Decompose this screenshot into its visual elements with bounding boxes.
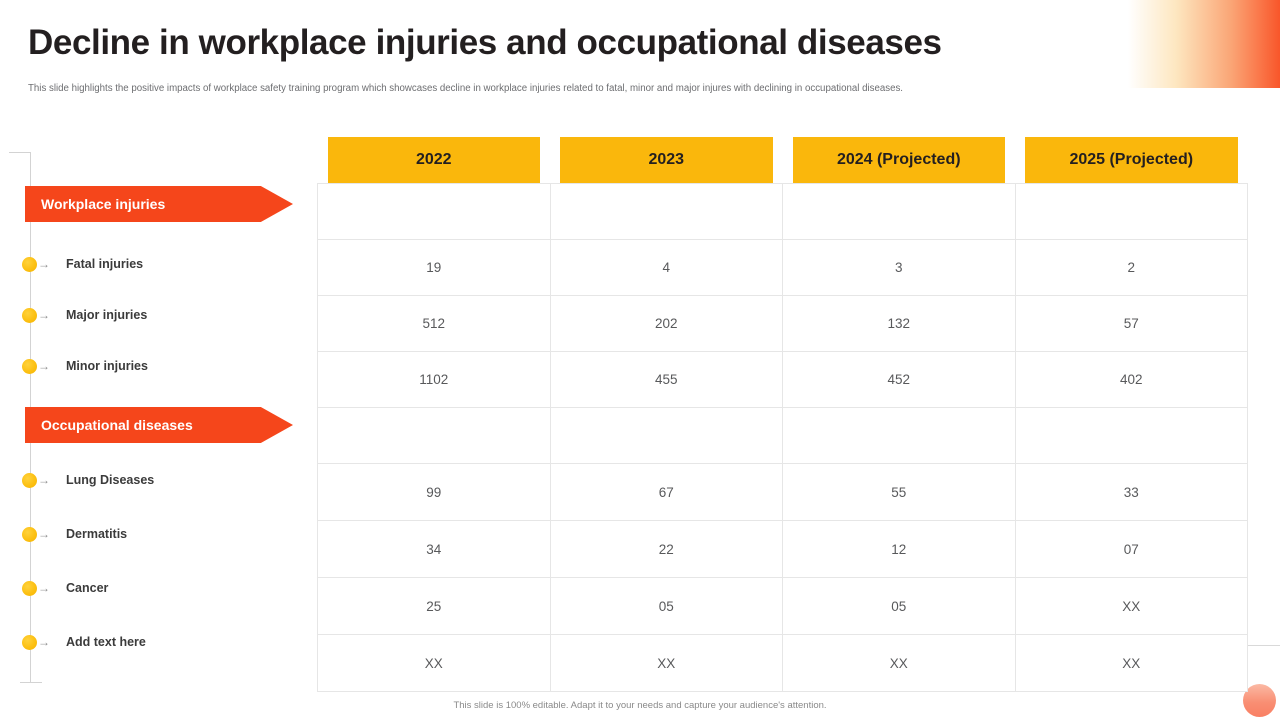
table-cell: XX bbox=[550, 635, 783, 692]
table-cell bbox=[1015, 408, 1248, 464]
table-cell: 1102 bbox=[318, 352, 551, 408]
dot-icon bbox=[22, 581, 37, 596]
timeline-rail-bottom-cap bbox=[20, 682, 42, 683]
table-cell: 19 bbox=[318, 240, 551, 296]
section-banner-label: Occupational diseases bbox=[41, 417, 193, 433]
section-banner-workplace-injuries[interactable]: Workplace injuries bbox=[25, 186, 293, 222]
table-row: 25 05 05 XX bbox=[318, 578, 1248, 635]
table-cell: 455 bbox=[550, 352, 783, 408]
table-cell: XX bbox=[1015, 635, 1248, 692]
sidebar-item-label: Cancer bbox=[66, 581, 108, 595]
table-row: 99 67 55 33 bbox=[318, 464, 1248, 521]
table-header-row: 2022 2023 2024 (Projected) 2025 (Project… bbox=[318, 135, 1248, 184]
table-cell bbox=[318, 184, 551, 240]
table-cell: 202 bbox=[550, 296, 783, 352]
table-row: 1102 455 452 402 bbox=[318, 352, 1248, 408]
table-cell bbox=[783, 184, 1016, 240]
sidebar-item-minor-injuries[interactable]: → Minor injuries bbox=[22, 357, 148, 375]
table-cell: 4 bbox=[550, 240, 783, 296]
table-cell: 12 bbox=[783, 521, 1016, 578]
table-cell: 55 bbox=[783, 464, 1016, 521]
arrow-right-icon: → bbox=[38, 474, 52, 486]
column-header-2024-projected[interactable]: 2024 (Projected) bbox=[783, 135, 1016, 184]
sidebar-item-label: Dermatitis bbox=[66, 527, 127, 541]
table-cell: 57 bbox=[1015, 296, 1248, 352]
table-cell: 402 bbox=[1015, 352, 1248, 408]
dot-icon bbox=[22, 635, 37, 650]
sidebar-item-label: Fatal injuries bbox=[66, 257, 143, 271]
sidebar-item-major-injuries[interactable]: → Major injuries bbox=[22, 306, 147, 324]
sidebar-item-dermatitis[interactable]: → Dermatitis bbox=[22, 525, 127, 543]
sidebar-item-cancer[interactable]: → Cancer bbox=[22, 579, 108, 597]
table-cell bbox=[550, 408, 783, 464]
arrow-right-icon: → bbox=[38, 636, 52, 648]
table-cell: 25 bbox=[318, 578, 551, 635]
table-cell bbox=[1015, 184, 1248, 240]
table-row: XX XX XX XX bbox=[318, 635, 1248, 692]
sidebar-item-fatal-injuries[interactable]: → Fatal injuries bbox=[22, 255, 143, 273]
table-row bbox=[318, 184, 1248, 240]
table-cell: XX bbox=[318, 635, 551, 692]
table-cell: 33 bbox=[1015, 464, 1248, 521]
column-header-2023[interactable]: 2023 bbox=[550, 135, 783, 184]
arrow-right-icon: → bbox=[38, 582, 52, 594]
sidebar-item-label: Minor injuries bbox=[66, 359, 148, 373]
column-header-label: 2022 bbox=[328, 137, 541, 183]
table-cell bbox=[318, 408, 551, 464]
table-row bbox=[318, 408, 1248, 464]
sidebar-item-add-text-here[interactable]: → Add text here bbox=[22, 633, 146, 651]
table-cell: 99 bbox=[318, 464, 551, 521]
table-cell bbox=[783, 408, 1016, 464]
column-header-2022[interactable]: 2022 bbox=[318, 135, 551, 184]
table-cell: 512 bbox=[318, 296, 551, 352]
table-cell: 34 bbox=[318, 521, 551, 578]
table-cell: 67 bbox=[550, 464, 783, 521]
section-banner-occupational-diseases[interactable]: Occupational diseases bbox=[25, 407, 293, 443]
table-cell: 132 bbox=[783, 296, 1016, 352]
column-header-label: 2024 (Projected) bbox=[793, 137, 1006, 183]
arrow-right-icon: → bbox=[38, 258, 52, 270]
table-row: 512 202 132 57 bbox=[318, 296, 1248, 352]
table-cell: 05 bbox=[783, 578, 1016, 635]
table-row: 34 22 12 07 bbox=[318, 521, 1248, 578]
sidebar-item-label: Lung Diseases bbox=[66, 473, 154, 487]
top-right-gradient-accent bbox=[1128, 0, 1280, 88]
table-cell: 452 bbox=[783, 352, 1016, 408]
table-cell: 2 bbox=[1015, 240, 1248, 296]
table-cell: 22 bbox=[550, 521, 783, 578]
timeline-rail-top-cap bbox=[9, 152, 31, 153]
table-cell: 3 bbox=[783, 240, 1016, 296]
arrow-right-icon: → bbox=[38, 528, 52, 540]
table-row: 19 4 3 2 bbox=[318, 240, 1248, 296]
table-cell: 05 bbox=[550, 578, 783, 635]
table-cell bbox=[550, 184, 783, 240]
column-header-2025-projected[interactable]: 2025 (Projected) bbox=[1015, 135, 1248, 184]
footer-note: This slide is 100% editable. Adapt it to… bbox=[0, 700, 1280, 711]
sidebar-item-label: Add text here bbox=[66, 635, 146, 649]
sidebar-item-lung-diseases[interactable]: → Lung Diseases bbox=[22, 471, 154, 489]
table-cell: XX bbox=[783, 635, 1016, 692]
dot-icon bbox=[22, 527, 37, 542]
arrow-right-icon: → bbox=[38, 360, 52, 372]
sidebar-item-label: Major injuries bbox=[66, 308, 147, 322]
dot-icon bbox=[22, 359, 37, 374]
table-cell: XX bbox=[1015, 578, 1248, 635]
arrow-right-icon: → bbox=[38, 309, 52, 321]
metrics-table: 2022 2023 2024 (Projected) 2025 (Project… bbox=[317, 135, 1247, 692]
section-banner-label: Workplace injuries bbox=[41, 196, 165, 212]
page-subtitle: This slide highlights the positive impac… bbox=[28, 83, 1148, 94]
column-header-label: 2023 bbox=[560, 137, 773, 183]
dot-icon bbox=[22, 473, 37, 488]
page-title: Decline in workplace injuries and occupa… bbox=[28, 23, 942, 63]
table-cell: 07 bbox=[1015, 521, 1248, 578]
column-header-label: 2025 (Projected) bbox=[1025, 137, 1238, 183]
dot-icon bbox=[22, 308, 37, 323]
dot-icon bbox=[22, 257, 37, 272]
